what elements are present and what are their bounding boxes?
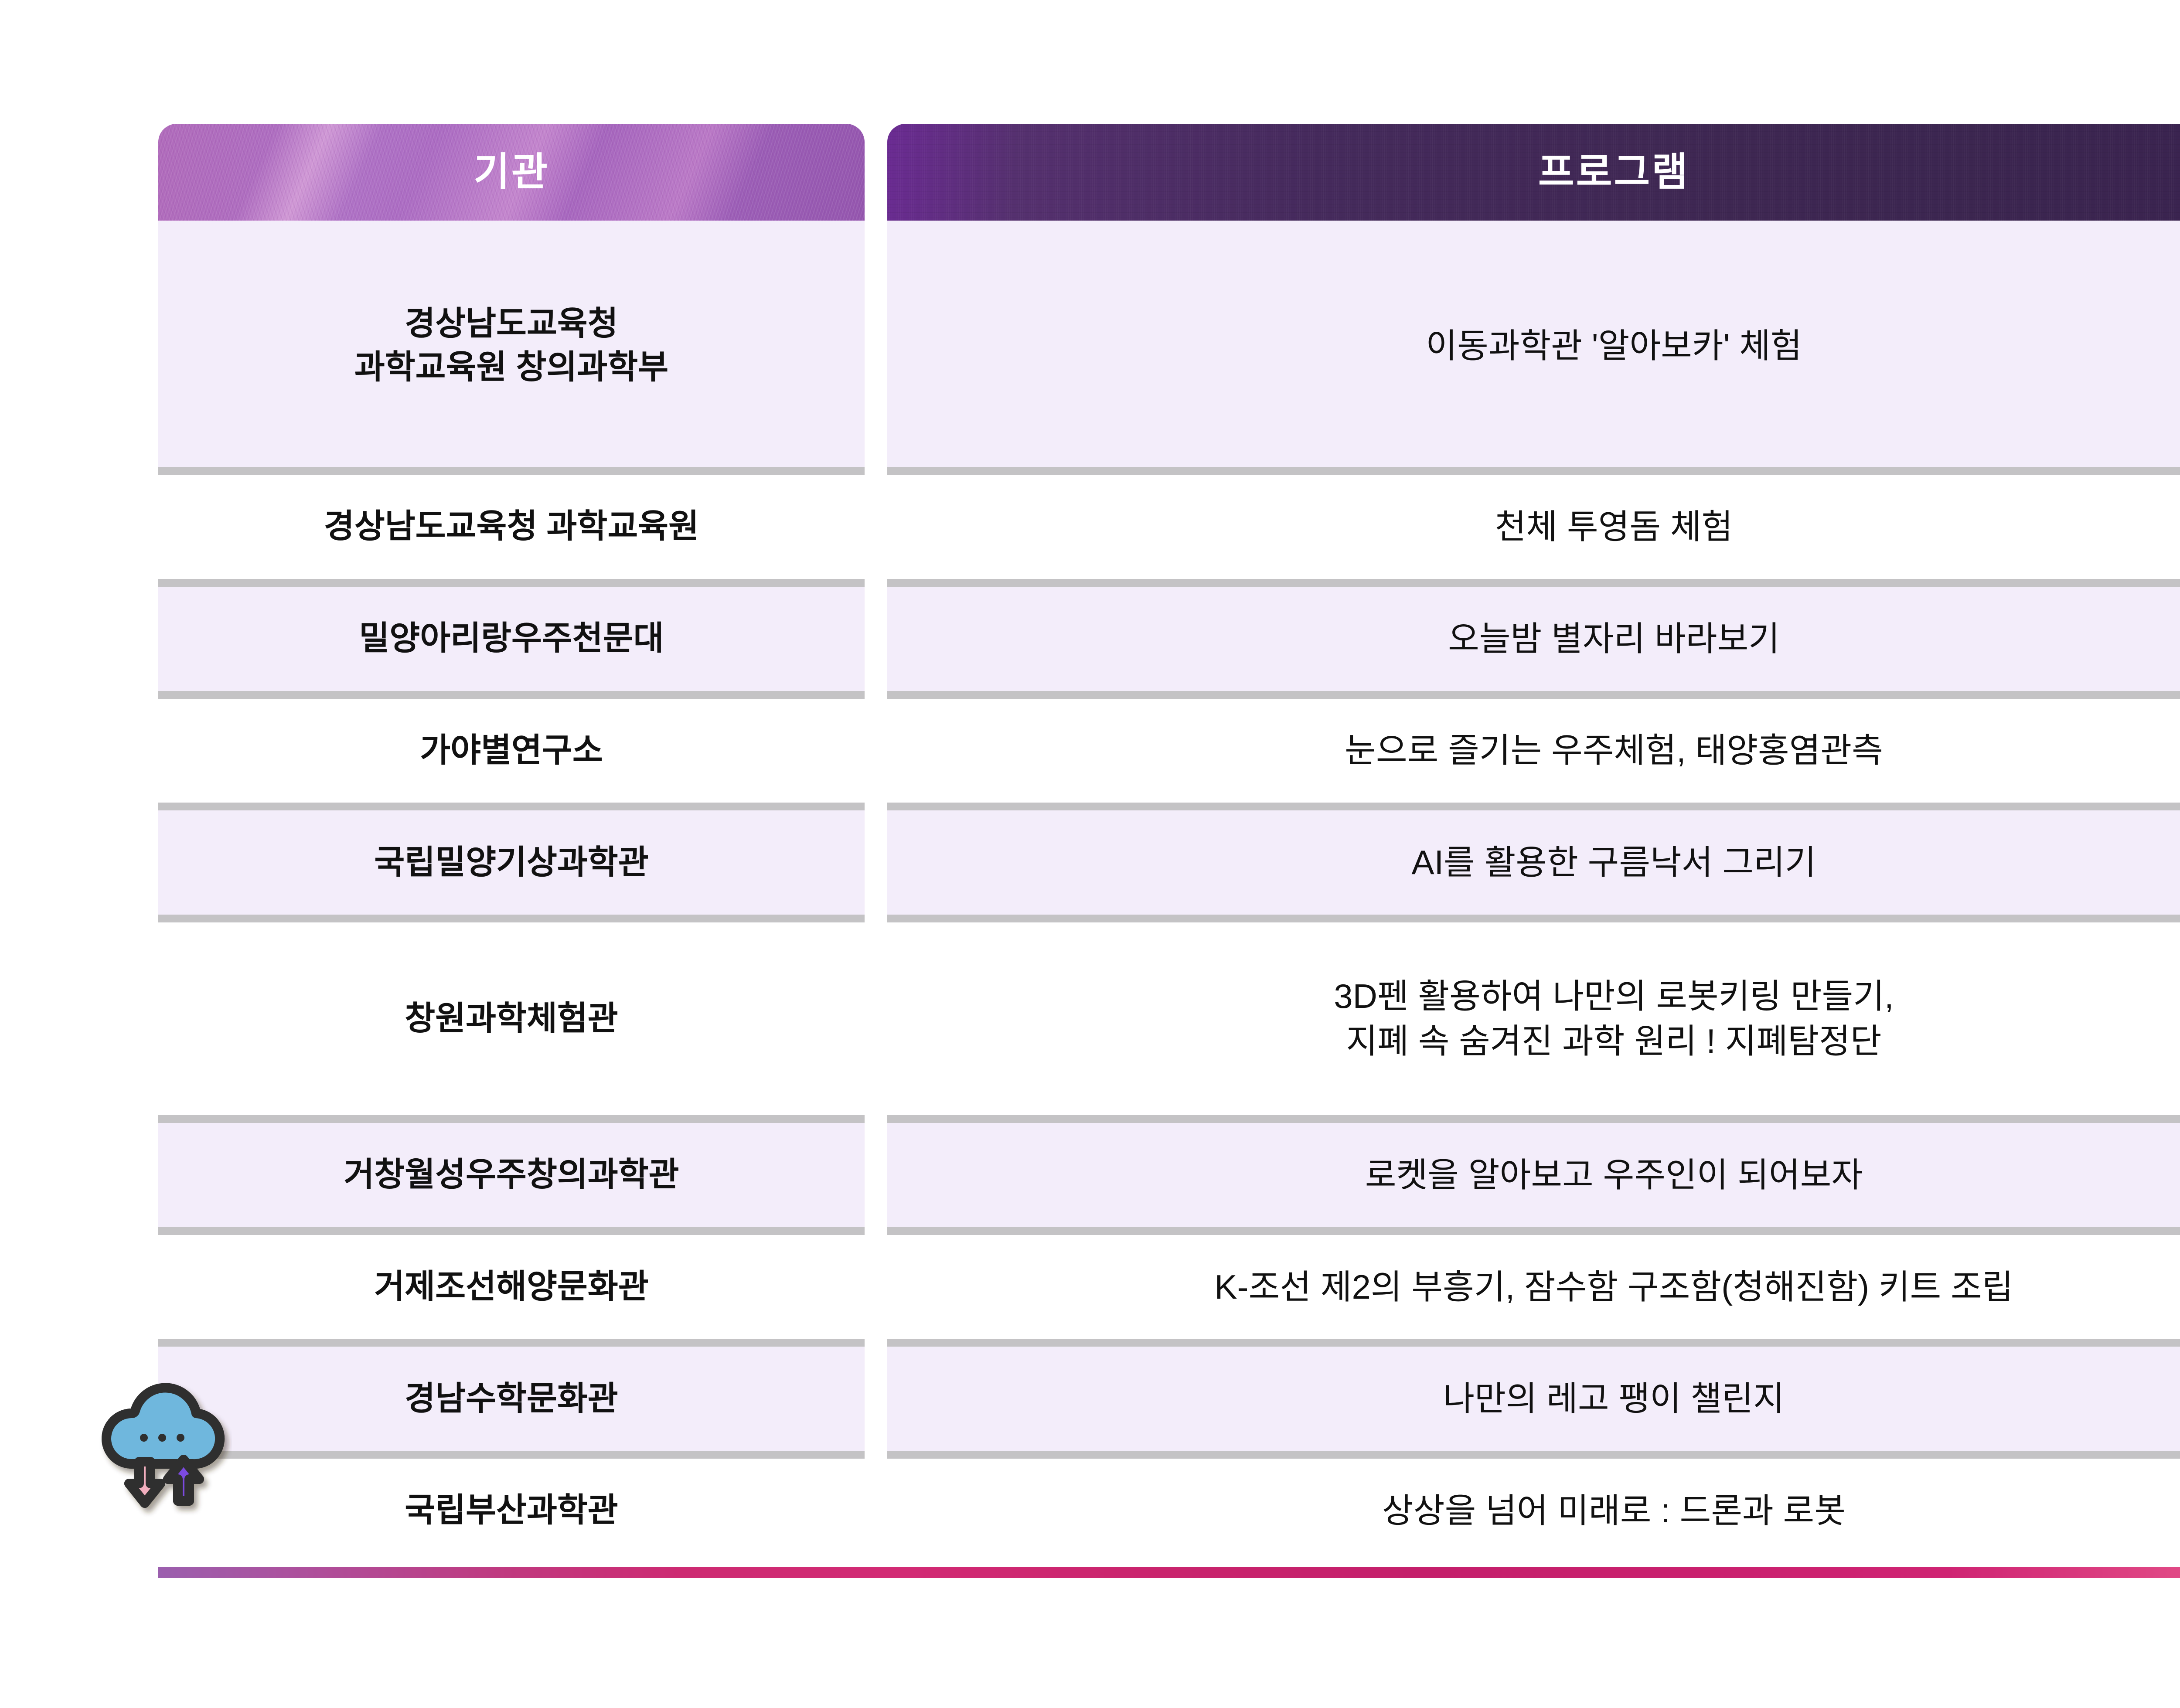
program-label: 오늘밤 별자리 바라보기 bbox=[1433, 616, 1795, 661]
table-row: 경남수학문화관나만의 레고 팽이 챌린지 bbox=[158, 1343, 2180, 1455]
program-label: 나만의 레고 팽이 챌린지 bbox=[1428, 1376, 1799, 1421]
institution-cell: 거창월성우주창의과학관 bbox=[158, 1119, 865, 1231]
institution-cell: 가야별연구소 bbox=[158, 695, 865, 807]
table-header-institution: 기관 bbox=[158, 124, 865, 221]
program-cell: 이동과학관 '알아보카' 체험 bbox=[887, 221, 2180, 471]
program-cell: 상상을 넘어 미래로 : 드론과 로봇 bbox=[887, 1455, 2180, 1567]
program-cell: 나만의 레고 팽이 챌린지 bbox=[887, 1343, 2180, 1455]
program-label: K-조선 제2의 부흥기, 잠수함 구조함(청해진함) 키트 조립 bbox=[1200, 1265, 2028, 1310]
institution-cell: 창원과학체험관 bbox=[158, 919, 865, 1119]
page-root: 기관 프로그램 경상남도교육청 과학교육원 창의과학부이동과학관 '알아보카' … bbox=[0, 0, 2180, 1708]
table-row: 밀양아리랑우주천문대오늘밤 별자리 바라보기 bbox=[158, 583, 2180, 695]
institution-cell: 국립부산과학관 bbox=[158, 1455, 865, 1567]
institution-label: 거제조선해양문화관 bbox=[359, 1265, 663, 1309]
program-cell: 천체 투영돔 체험 bbox=[887, 471, 2180, 583]
table-row: 창원과학체험관3D펜 활용하여 나만의 로봇키링 만들기, 지폐 속 숨겨진 과… bbox=[158, 919, 2180, 1119]
institution-label: 국립부산과학관 bbox=[390, 1489, 633, 1532]
table-header-row: 기관 프로그램 bbox=[158, 124, 2180, 221]
program-label: 로켓을 알아보고 우주인이 되어보자 bbox=[1350, 1153, 1877, 1198]
table-bottom-accent-bar bbox=[158, 1567, 2180, 1578]
institution-label: 창원과학체험관 bbox=[390, 997, 633, 1041]
institution-label: 국립밀양기상과학관 bbox=[359, 841, 663, 885]
table-row: 국립밀양기상과학관AI를 활용한 구름낙서 그리기 bbox=[158, 806, 2180, 919]
institution-label: 경남수학문화관 bbox=[390, 1377, 633, 1421]
program-label: 이동과학관 '알아보카' 체험 bbox=[1411, 323, 1817, 368]
institution-cell: 국립밀양기상과학관 bbox=[158, 806, 865, 919]
table-body: 경상남도교육청 과학교육원 창의과학부이동과학관 '알아보카' 체험경상남도교육… bbox=[158, 221, 2180, 1567]
table-header-program-label: 프로그램 bbox=[1538, 153, 1689, 192]
table-header-institution-label: 기관 bbox=[473, 153, 549, 192]
program-label: 상상을 넘어 미래로 : 드론과 로봇 bbox=[1367, 1488, 1860, 1533]
program-cell: 눈으로 즐기는 우주체험, 태양홍염관측 bbox=[887, 695, 2180, 807]
program-label: 천체 투영돔 체험 bbox=[1480, 504, 1748, 549]
institution-label: 경상남도교육청 과학교육원 bbox=[309, 505, 714, 548]
institution-cell: 밀양아리랑우주천문대 bbox=[158, 583, 865, 695]
program-cell: K-조선 제2의 부흥기, 잠수함 구조함(청해진함) 키트 조립 bbox=[887, 1231, 2180, 1343]
table-row: 경상남도교육청 과학교육원 창의과학부이동과학관 '알아보카' 체험 bbox=[158, 221, 2180, 471]
institution-label: 가야별연구소 bbox=[405, 729, 618, 772]
program-cell: 로켓을 알아보고 우주인이 되어보자 bbox=[887, 1119, 2180, 1231]
program-label: AI를 활용한 구름낙서 그리기 bbox=[1397, 840, 1831, 885]
table-header-program: 프로그램 bbox=[887, 124, 2180, 221]
institution-label: 밀양아리랑우주천문대 bbox=[344, 617, 678, 660]
program-cell: 오늘밤 별자리 바라보기 bbox=[887, 583, 2180, 695]
table-row: 국립부산과학관상상을 넘어 미래로 : 드론과 로봇 bbox=[158, 1455, 2180, 1567]
table-row: 거창월성우주창의과학관로켓을 알아보고 우주인이 되어보자 bbox=[158, 1119, 2180, 1231]
table-row: 가야별연구소눈으로 즐기는 우주체험, 태양홍염관측 bbox=[158, 695, 2180, 807]
table-row: 거제조선해양문화관K-조선 제2의 부흥기, 잠수함 구조함(청해진함) 키트 … bbox=[158, 1231, 2180, 1343]
institution-cell: 경남수학문화관 bbox=[158, 1343, 865, 1455]
program-table: 기관 프로그램 경상남도교육청 과학교육원 창의과학부이동과학관 '알아보카' … bbox=[158, 124, 2180, 1578]
table-row: 경상남도교육청 과학교육원천체 투영돔 체험 bbox=[158, 471, 2180, 583]
program-label: 눈으로 즐기는 우주체험, 태양홍염관측 bbox=[1330, 728, 1898, 773]
program-label: 3D펜 활용하여 나만의 로봇키링 만들기, 지폐 속 숨겨진 과학 원리 ! … bbox=[1319, 974, 1908, 1064]
institution-label: 경상남도교육청 과학교육원 창의과학부 bbox=[340, 302, 683, 390]
institution-cell: 경상남도교육청 과학교육원 bbox=[158, 471, 865, 583]
program-cell: 3D펜 활용하여 나만의 로봇키링 만들기, 지폐 속 숨겨진 과학 원리 ! … bbox=[887, 919, 2180, 1119]
institution-cell: 거제조선해양문화관 bbox=[158, 1231, 865, 1343]
institution-label: 거창월성우주창의과학관 bbox=[329, 1153, 694, 1197]
institution-cell: 경상남도교육청 과학교육원 창의과학부 bbox=[158, 221, 865, 471]
program-cell: AI를 활용한 구름낙서 그리기 bbox=[887, 806, 2180, 919]
